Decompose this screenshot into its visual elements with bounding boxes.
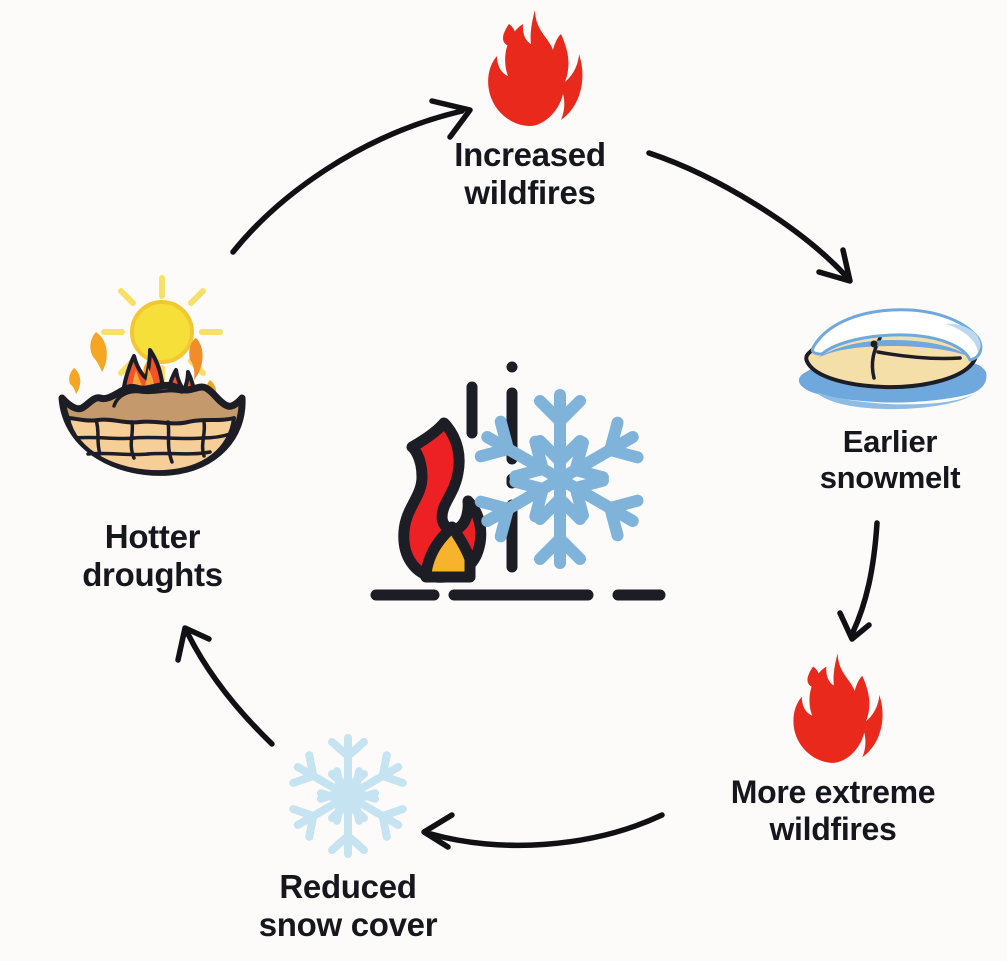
- node-reduced-snow-cover[interactable]: Reduced snow cover: [218, 730, 478, 945]
- node-earlier-snowmelt[interactable]: Earlier snowmelt: [775, 300, 1005, 496]
- node-increased-wildfires[interactable]: Increased wildfires: [400, 8, 660, 213]
- node-label: Earlier snowmelt: [820, 424, 961, 496]
- snowflake-glyph: [477, 395, 642, 563]
- arrow-wildfires-to-snowmelt: [649, 153, 850, 281]
- arrow-snowcover-to-droughts: [178, 628, 272, 744]
- node-label: Hotter droughts: [82, 518, 223, 595]
- node-label: Increased wildfires: [454, 136, 605, 213]
- flame-icon: [475, 8, 585, 130]
- cycle-diagram-canvas: .ink { fill: none; stroke: #111115; stro…: [0, 0, 1007, 961]
- melting-snow-icon: [788, 300, 993, 418]
- node-label: Reduced snow cover: [259, 868, 438, 945]
- sun-icon: [104, 278, 220, 386]
- node-more-extreme-wildfires[interactable]: More extreme wildfires: [668, 650, 998, 848]
- node-hotter-droughts[interactable]: Hotter droughts: [25, 272, 280, 595]
- node-label: More extreme wildfires: [731, 774, 936, 848]
- arrow-snowmelt-to-extreme: [840, 523, 877, 639]
- flame-icon: [781, 650, 885, 768]
- center-fire-and-snowflake-icon: [360, 355, 690, 622]
- drought-sun-icon: [38, 272, 268, 512]
- fire-glyph: [404, 423, 481, 577]
- snowflake-icon: [282, 730, 414, 862]
